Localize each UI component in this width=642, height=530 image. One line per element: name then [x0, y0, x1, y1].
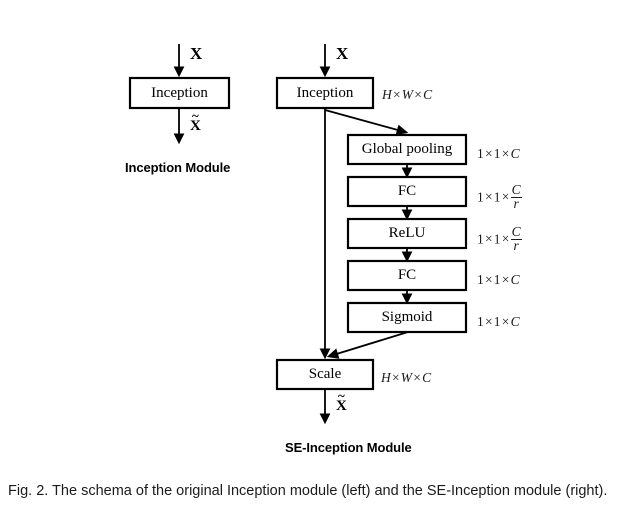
dim-fc-1: 1×1×Cr — [477, 185, 522, 212]
dim-h: H — [382, 87, 392, 102]
figure-caption: Fig. 2. The schema of the original Incep… — [8, 482, 636, 501]
dim-one: 1 — [494, 189, 501, 204]
dim-sigmoid: 1×1×C — [477, 314, 520, 330]
dim-fraction-c-over-r: Cr — [511, 184, 522, 211]
figure-diagram: X Inception ~X Inception Module X Incept… — [0, 0, 642, 470]
dim-global-pooling: 1×1×C — [477, 146, 520, 162]
dim-times-icon: × — [484, 272, 494, 287]
dim-times-icon: × — [392, 87, 402, 102]
dim-c: C — [511, 272, 520, 287]
right-block-scale-label: Scale — [277, 367, 373, 382]
right-block-relu-label: ReLU — [348, 226, 466, 241]
dim-c: C — [422, 370, 431, 385]
right-block-global-pooling-label: Global pooling — [348, 142, 466, 157]
dim-times-icon: × — [501, 146, 511, 161]
dim-r: r — [511, 240, 522, 253]
dim-times-icon: × — [484, 231, 494, 246]
left-output-tilde-accent: ~ — [192, 109, 199, 122]
dim-times-icon: × — [501, 189, 511, 204]
dim-inception: H×W×C — [382, 87, 432, 103]
right-block-fc-1-label: FC — [348, 184, 466, 199]
left-module-caption: Inception Module — [125, 160, 230, 175]
dim-r: r — [511, 198, 522, 211]
right-block-fc-2-label: FC — [348, 268, 466, 283]
dim-times-icon: × — [484, 189, 494, 204]
dim-one: 1 — [494, 146, 501, 161]
dim-c: C — [511, 314, 520, 329]
dim-times-icon: × — [484, 146, 494, 161]
dim-relu: 1×1×Cr — [477, 227, 522, 254]
dim-one: 1 — [477, 189, 484, 204]
dim-times-icon: × — [413, 87, 423, 102]
dim-one: 1 — [477, 231, 484, 246]
right-block-sigmoid-label: Sigmoid — [348, 310, 466, 325]
right-block-inception-label: Inception — [277, 86, 373, 101]
dim-times-icon: × — [391, 370, 401, 385]
dim-one: 1 — [494, 314, 501, 329]
left-output-tensor-label: ~X — [190, 117, 201, 135]
dim-times-icon: × — [501, 272, 511, 287]
branch-sigmoid-to-scale — [330, 332, 408, 356]
dim-scale: H×W×C — [381, 370, 431, 386]
diagram-vector-layer — [0, 0, 642, 470]
right-output-tilde-accent: ~ — [338, 389, 345, 402]
left-input-tensor-label: X — [190, 44, 202, 64]
dim-times-icon: × — [484, 314, 494, 329]
dim-fc-2: 1×1×C — [477, 272, 520, 288]
dim-one: 1 — [477, 272, 484, 287]
dim-one: 1 — [477, 314, 484, 329]
right-output-tensor-label: ~X — [336, 397, 347, 415]
dim-one: 1 — [494, 231, 501, 246]
right-module-caption: SE-Inception Module — [285, 440, 412, 455]
right-input-tensor-label: X — [336, 44, 348, 64]
dim-one: 1 — [477, 146, 484, 161]
dim-w: W — [402, 87, 413, 102]
dim-times-icon: × — [501, 314, 511, 329]
dim-w: W — [401, 370, 412, 385]
left-block-inception-label: Inception — [130, 86, 229, 101]
dim-one: 1 — [494, 272, 501, 287]
dim-c: C — [423, 87, 432, 102]
dim-c: C — [511, 146, 520, 161]
dim-times-icon: × — [412, 370, 422, 385]
dim-fraction-c-over-r: Cr — [511, 226, 522, 253]
dim-times-icon: × — [501, 231, 511, 246]
branch-to-global-pooling — [325, 110, 405, 132]
dim-h: H — [381, 370, 391, 385]
